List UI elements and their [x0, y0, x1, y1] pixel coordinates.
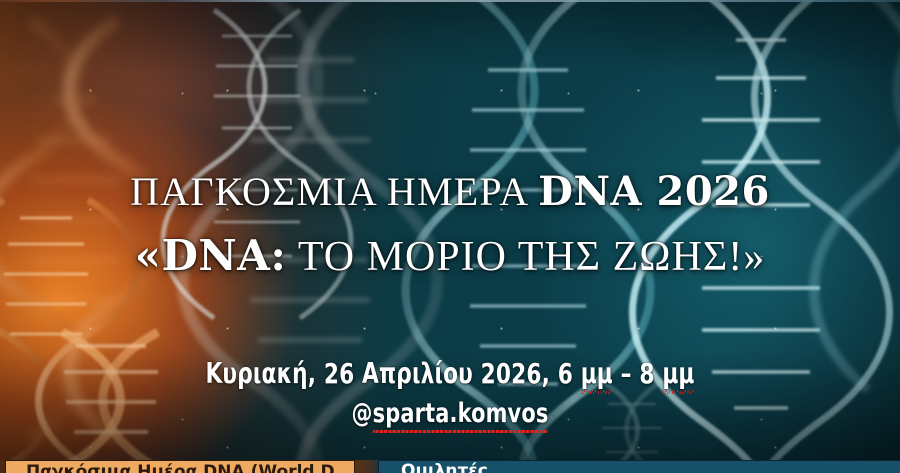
panel-world-dna-day-label: Παγκόσμια Ημέρα DNA (World D	[26, 463, 335, 473]
poster-title-line-1: ΠΑΓΚΟΣΜΙΑ ΗΜΕΡΑ DNA 2026	[0, 170, 900, 214]
spellcheck-misspelling-3: sparta.komvos	[373, 398, 549, 430]
panel-world-dna-day[interactable]: Παγκόσμια Ημέρα DNA (World D	[5, 460, 355, 473]
poster-title-line-1-emphasis: DNA 2026	[538, 168, 770, 215]
poster-date-text: Κυριακή, 26 Απριλίου 2026, 6	[205, 357, 580, 390]
poster-title-line-2: «DNA: ΤΟ ΜΟΡΙΟ ΤΗΣ ΖΩΗΣ!»	[0, 233, 900, 280]
bottom-panel-strip: Παγκόσμια Ημέρα DNA (World D Ομιλητές	[0, 460, 900, 473]
poster-title-line-2-plain: ΤΟ ΜΟΡΙΟ ΤΗΣ ΖΩΗΣ!»	[286, 234, 765, 280]
top-edge-hairline	[0, 0, 900, 2]
poster-date-separator: – 8	[613, 357, 662, 390]
at-symbol: @	[352, 398, 373, 429]
poster-title-line-1-plain: ΠΑΓΚΟΣΜΙΑ ΗΜΕΡΑ	[130, 169, 538, 214]
background-vignette	[0, 0, 900, 460]
panel-speakers-label: Ομιλητές	[401, 462, 488, 473]
slide-screenshot: ΠΑΓΚΟΣΜΙΑ ΗΜΕΡΑ DNA 2026 «DNA: ΤΟ ΜΟΡΙΟ …	[0, 0, 900, 473]
poster-date-line: Κυριακή, 26 Απριλίου 2026, 6 μμ – 8 μμ	[63, 358, 837, 390]
poster-title-line-2-emphasis: «DNA:	[135, 231, 287, 280]
poster-slide: ΠΑΓΚΟΣΜΙΑ ΗΜΕΡΑ DNA 2026 «DNA: ΤΟ ΜΟΡΙΟ …	[0, 0, 900, 460]
strip-panel-gap	[355, 460, 378, 473]
spellcheck-misspelling-1: μμ	[581, 357, 613, 391]
poster-handle-line: @sparta.komvos	[63, 398, 837, 429]
spellcheck-misspelling-2: μμ	[662, 357, 694, 391]
panel-speakers[interactable]: Ομιλητές	[378, 460, 900, 473]
